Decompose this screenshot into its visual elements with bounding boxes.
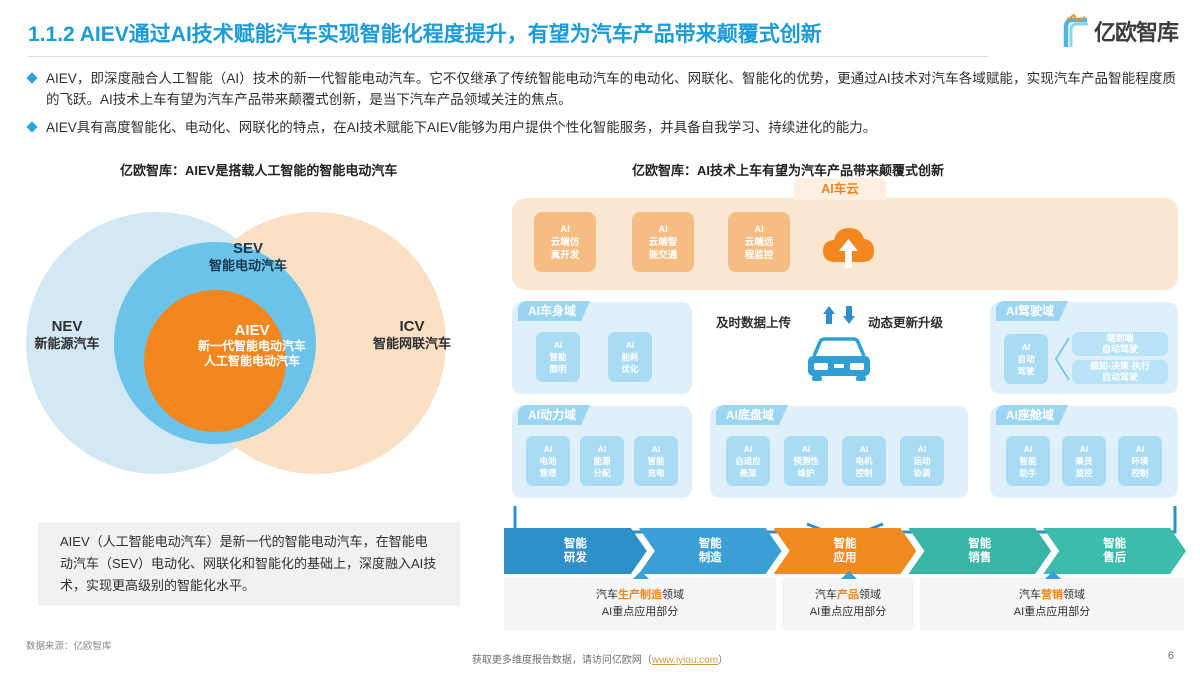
flow-step[interactable]: 智能 售后 — [1043, 528, 1186, 574]
branch-line: 自动驾驶 — [1102, 344, 1138, 354]
value-chain-flow: 智能 研发 智能 制造 智能 应用 智能 销售 智能 售后 — [504, 528, 1186, 574]
domain-box-line: 优化 — [621, 364, 638, 374]
domain-panel-chassis: AI底盘域 AI 自适应 悬架 AI 预测性 维护 AI 电机 控制 AI — [710, 406, 968, 498]
domain-box-line: AI — [802, 444, 811, 454]
branch-line: 感知-决策-执行 — [1090, 361, 1150, 371]
domain-branch-box[interactable]: 感知-决策-执行 自动驾驶 — [1072, 360, 1168, 384]
flow-step-line: 智能 — [699, 538, 722, 550]
branch-connector-icon — [1052, 336, 1070, 382]
domain-box[interactable]: AI 电池 管理 — [526, 436, 570, 486]
venn-label-icv: ICV 智能网联汽车 — [352, 318, 472, 352]
domain-box-line: 智能 — [1019, 456, 1036, 466]
cloud-box-line: AI — [560, 224, 570, 235]
domain-box-line: 预测性 — [793, 456, 819, 466]
flow-step-line: 智能 — [968, 538, 991, 550]
domain-box-line: AI — [744, 444, 753, 454]
right-panel-title: 亿欧智库：AI技术上车有望为汽车产品带来颠覆式创新 — [632, 160, 944, 179]
cloud-box-line: AI — [658, 224, 668, 235]
cloud-box-line: 云端仿 — [551, 237, 580, 248]
venn-note-text: AIEV（人工智能电动汽车）是新一代的智能电动汽车，在智能电动汽车（SEV）电动… — [38, 531, 460, 597]
page-number: 6 — [1168, 650, 1174, 662]
flow-step-line: 智能 — [1103, 538, 1126, 550]
domain-box-line: 管理 — [539, 468, 556, 478]
logo-text: 亿欧智库 — [1094, 15, 1178, 47]
domain-tab-label: AI动力域 — [518, 405, 590, 425]
domain-tab-label: AI座舱域 — [996, 405, 1068, 425]
cloud-box-line: 程监控 — [745, 250, 774, 261]
domain-box-line: 悬架 — [739, 468, 756, 478]
note-post: 领域 — [1063, 589, 1085, 601]
domain-box-line: 运动 — [913, 456, 930, 466]
domain-box-line: 能耗 — [621, 352, 638, 362]
flow-step-line: 售后 — [1103, 552, 1126, 564]
domain-box-line: 能源 — [593, 456, 610, 466]
left-panel-title: 亿欧智库：AIEV是搭载人工智能的智能电动汽车 — [120, 160, 397, 179]
domain-box-line: AI — [652, 444, 661, 454]
flow-step[interactable]: 智能 销售 — [908, 528, 1051, 574]
note-sub: AI重点应用部分 — [1014, 604, 1090, 621]
domain-box-line: AI — [598, 444, 607, 454]
cloud-box[interactable]: AI 云端智 能交通 — [632, 212, 694, 272]
venn-label-nev: NEV 新能源汽车 — [12, 318, 122, 352]
flow-step[interactable]: 智能 制造 — [639, 528, 782, 574]
note-highlight: 生产制造 — [618, 589, 662, 601]
diamond-bullet-icon — [26, 121, 37, 132]
bullet-text: AIEV，即深度融合人工智能（AI）技术的新一代智能电动汽车。它不仅继承了传统智… — [46, 68, 1176, 110]
domain-box[interactable]: AI 智能 照明 — [536, 332, 580, 382]
domain-box[interactable]: AI 环境 控制 — [1118, 436, 1162, 486]
cloud-tab-label: AI车云 — [794, 178, 886, 200]
page-title: 1.1.2 AIEV通过AI技术赋能汽车实现智能化程度提升，有望为汽车产品带来颠… — [28, 18, 822, 48]
note-sub: AI重点应用部分 — [602, 604, 678, 621]
cloud-upload-icon — [820, 222, 876, 270]
note-post: 领域 — [859, 589, 881, 601]
cloud-box[interactable]: AI 云端远 程监控 — [728, 212, 790, 272]
domain-box-line: 电机 — [855, 456, 872, 466]
domain-box[interactable]: AI 运动 协调 — [900, 436, 944, 486]
domain-box-line: 分配 — [593, 468, 610, 478]
venn-note-box: AIEV（人工智能电动汽车）是新一代的智能电动汽车，在智能电动汽车（SEV）电动… — [38, 522, 460, 606]
domain-panel-cabin: AI座舱域 AI 智能 助手 AI 乘员 监控 AI 环境 控制 — [990, 406, 1178, 498]
domain-box-line: 电池 — [539, 456, 556, 466]
note-title: 汽车产品领域 — [815, 587, 881, 604]
flow-note: 汽车产品领域 AI重点应用部分 — [782, 578, 914, 630]
domain-box-line: 助手 — [1019, 468, 1036, 478]
venn-nev-cn: 新能源汽车 — [12, 335, 122, 352]
venn-icv-en: ICV — [352, 318, 472, 335]
branch-line: 端到端 — [1106, 333, 1133, 343]
domain-tab-label: AI底盘域 — [716, 405, 788, 425]
domain-box-line: 乘员 — [1075, 456, 1092, 466]
domain-box-line: 监控 — [1075, 468, 1092, 478]
flow-step[interactable]: 智能 研发 — [504, 528, 647, 574]
venn-aiev-cn2: 人工智能电动汽车 — [142, 354, 362, 369]
domain-box-line: 智能 — [647, 456, 664, 466]
note-caret-icon — [633, 571, 649, 579]
note-title: 汽车营销领域 — [1019, 587, 1085, 604]
flow-step[interactable]: 智能 应用 — [774, 528, 917, 574]
domain-box[interactable]: AI 自适应 悬架 — [726, 436, 770, 486]
domain-box-line: 驾驶 — [1017, 366, 1034, 376]
domain-box-line: 控制 — [855, 468, 872, 478]
venn-nev-en: NEV — [12, 318, 122, 335]
footer-note-suffix: ） — [718, 655, 728, 666]
note-caret-icon — [1045, 571, 1061, 579]
flow-step-line: 制造 — [699, 552, 722, 564]
data-upload-label: 及时数据上传 — [716, 312, 791, 331]
bullet-list: AIEV，即深度融合人工智能（AI）技术的新一代智能电动汽车。它不仅继承了传统智… — [26, 68, 1176, 145]
up-down-arrows-icon — [822, 304, 856, 326]
domain-tab-label: AI车身域 — [518, 301, 590, 321]
footer-note: 获取更多维度报告数据，请访问亿欧网（www.iyiou.com） — [0, 651, 1200, 666]
venn-sev-cn: 智能电动汽车 — [168, 257, 328, 274]
domain-box-line: 环境 — [1131, 456, 1148, 466]
venn-aiev-cn1: 新一代智能电动汽车 — [142, 339, 362, 354]
architecture-diagram: AI车云 AI 云端仿 真开发 AI 云端智 能交通 AI 云端远 程监控 — [504, 190, 1186, 520]
domain-box-line: AI — [626, 340, 635, 350]
cloud-box[interactable]: AI 云端仿 真开发 — [534, 212, 596, 272]
flow-step-line: 应用 — [833, 552, 856, 564]
domain-box[interactable]: AI 电机 控制 — [842, 436, 886, 486]
bullet-text: AIEV具有高度智能化、电动化、网联化的特点，在AI技术赋能下AIEV能够为用户… — [46, 117, 1176, 138]
domain-box-line: 智能 — [549, 352, 566, 362]
venn-label-sev: SEV 智能电动汽车 — [168, 240, 328, 274]
note-highlight: 产品 — [837, 589, 859, 601]
domain-box-line: AI — [1024, 444, 1033, 454]
venn-sev-en: SEV — [168, 240, 328, 257]
flow-step-line: 销售 — [968, 552, 991, 564]
note-post: 领域 — [662, 589, 684, 601]
flow-step-line: 研发 — [564, 552, 587, 564]
domain-box[interactable]: AI 能耗 优化 — [608, 332, 652, 382]
dynamic-update-label: 动态更新升级 — [868, 312, 943, 331]
domain-box[interactable]: AI 智能 充电 — [634, 436, 678, 486]
diamond-bullet-icon — [26, 72, 37, 83]
domain-box-line: 照明 — [549, 364, 566, 374]
slide-page: 1.1.2 AIEV通过AI技术赋能汽车实现智能化程度提升，有望为汽车产品带来颠… — [0, 0, 1200, 674]
domain-panel-power: AI动力域 AI 电池 管理 AI 能源 分配 AI 智能 充电 — [512, 406, 692, 498]
flow-step-line: 智能 — [564, 538, 587, 550]
domain-box-line: AI — [1022, 342, 1031, 352]
bullet-item: AIEV具有高度智能化、电动化、网联化的特点，在AI技术赋能下AIEV能够为用户… — [26, 117, 1176, 138]
note-pre: 汽车 — [1019, 589, 1041, 601]
domain-box[interactable]: AI 预测性 维护 — [784, 436, 828, 486]
venn-aiev-en: AIEV — [142, 322, 362, 339]
domain-panel-driving: AI驾驶域 AI 自动 驾驶 端到端 自动驾驶 感知-决策-执行 自动驾驶 — [990, 302, 1178, 394]
iyiou-link[interactable]: www.iyiou.com — [652, 655, 718, 666]
note-pre: 汽车 — [596, 589, 618, 601]
domain-box-line: AI — [554, 340, 563, 350]
note-highlight: 营销 — [1041, 589, 1063, 601]
domain-box-line: 自适应 — [735, 456, 761, 466]
title-divider — [28, 56, 988, 57]
cloud-box-line: 云端智 — [649, 237, 678, 248]
domain-branch-box[interactable]: 端到端 自动驾驶 — [1072, 332, 1168, 356]
domain-panel-body: AI车身域 AI 智能 照明 AI 能耗 优化 — [512, 302, 692, 394]
branch-line: 自动驾驶 — [1102, 372, 1138, 382]
domain-box[interactable]: AI 自动 驾驶 — [1004, 334, 1048, 384]
venn-label-aiev: AIEV 新一代智能电动汽车 人工智能电动汽车 — [142, 322, 362, 369]
note-sub: AI重点应用部分 — [810, 604, 886, 621]
page-header: 1.1.2 AIEV通过AI技术赋能汽车实现智能化程度提升，有望为汽车产品带来颠… — [0, 0, 1200, 62]
domain-box-line: 维护 — [797, 468, 814, 478]
flow-step-line: 智能 — [833, 538, 856, 550]
brand-logo: 亿欧智库 — [1061, 14, 1178, 48]
note-caret-icon — [841, 571, 857, 579]
footer-note-prefix: 获取更多维度报告数据，请访问亿欧网（ — [472, 655, 652, 666]
note-pre: 汽车 — [815, 589, 837, 601]
cloud-box-line: 云端远 — [745, 237, 774, 248]
flow-note: 汽车营销领域 AI重点应用部分 — [920, 578, 1184, 630]
domain-box-line: AI — [860, 444, 869, 454]
domain-box-line: 自动 — [1017, 354, 1034, 364]
bullet-item: AIEV，即深度融合人工智能（AI）技术的新一代智能电动汽车。它不仅继承了传统智… — [26, 68, 1176, 110]
domain-box-line: 充电 — [647, 468, 664, 478]
domain-box-line: AI — [544, 444, 553, 454]
domain-tab-label: AI驾驶域 — [996, 301, 1068, 321]
venn-icv-cn: 智能网联汽车 — [352, 335, 472, 352]
domain-box-line: 协调 — [913, 468, 930, 478]
logo-mark-icon — [1061, 14, 1091, 48]
data-source-label: 数据来源：亿欧智库 — [26, 638, 112, 652]
domain-box[interactable]: AI 乘员 监控 — [1062, 436, 1106, 486]
flow-notes: 汽车生产制造领域 AI重点应用部分 汽车产品领域 AI重点应用部分 汽车营销领域… — [504, 578, 1186, 630]
cloud-box-line: AI — [754, 224, 764, 235]
domain-box[interactable]: AI 能源 分配 — [580, 436, 624, 486]
flow-note: 汽车生产制造领域 AI重点应用部分 — [504, 578, 776, 630]
domain-box-line: AI — [918, 444, 927, 454]
domain-box-line: AI — [1136, 444, 1145, 454]
domain-box[interactable]: AI 智能 助手 — [1006, 436, 1050, 486]
domain-box-line: 控制 — [1131, 468, 1148, 478]
cloud-box-line: 能交通 — [649, 250, 678, 261]
note-title: 汽车生产制造领域 — [596, 587, 684, 604]
car-front-icon — [804, 336, 874, 384]
cloud-box-line: 真开发 — [551, 250, 580, 261]
domain-box-line: AI — [1080, 444, 1089, 454]
